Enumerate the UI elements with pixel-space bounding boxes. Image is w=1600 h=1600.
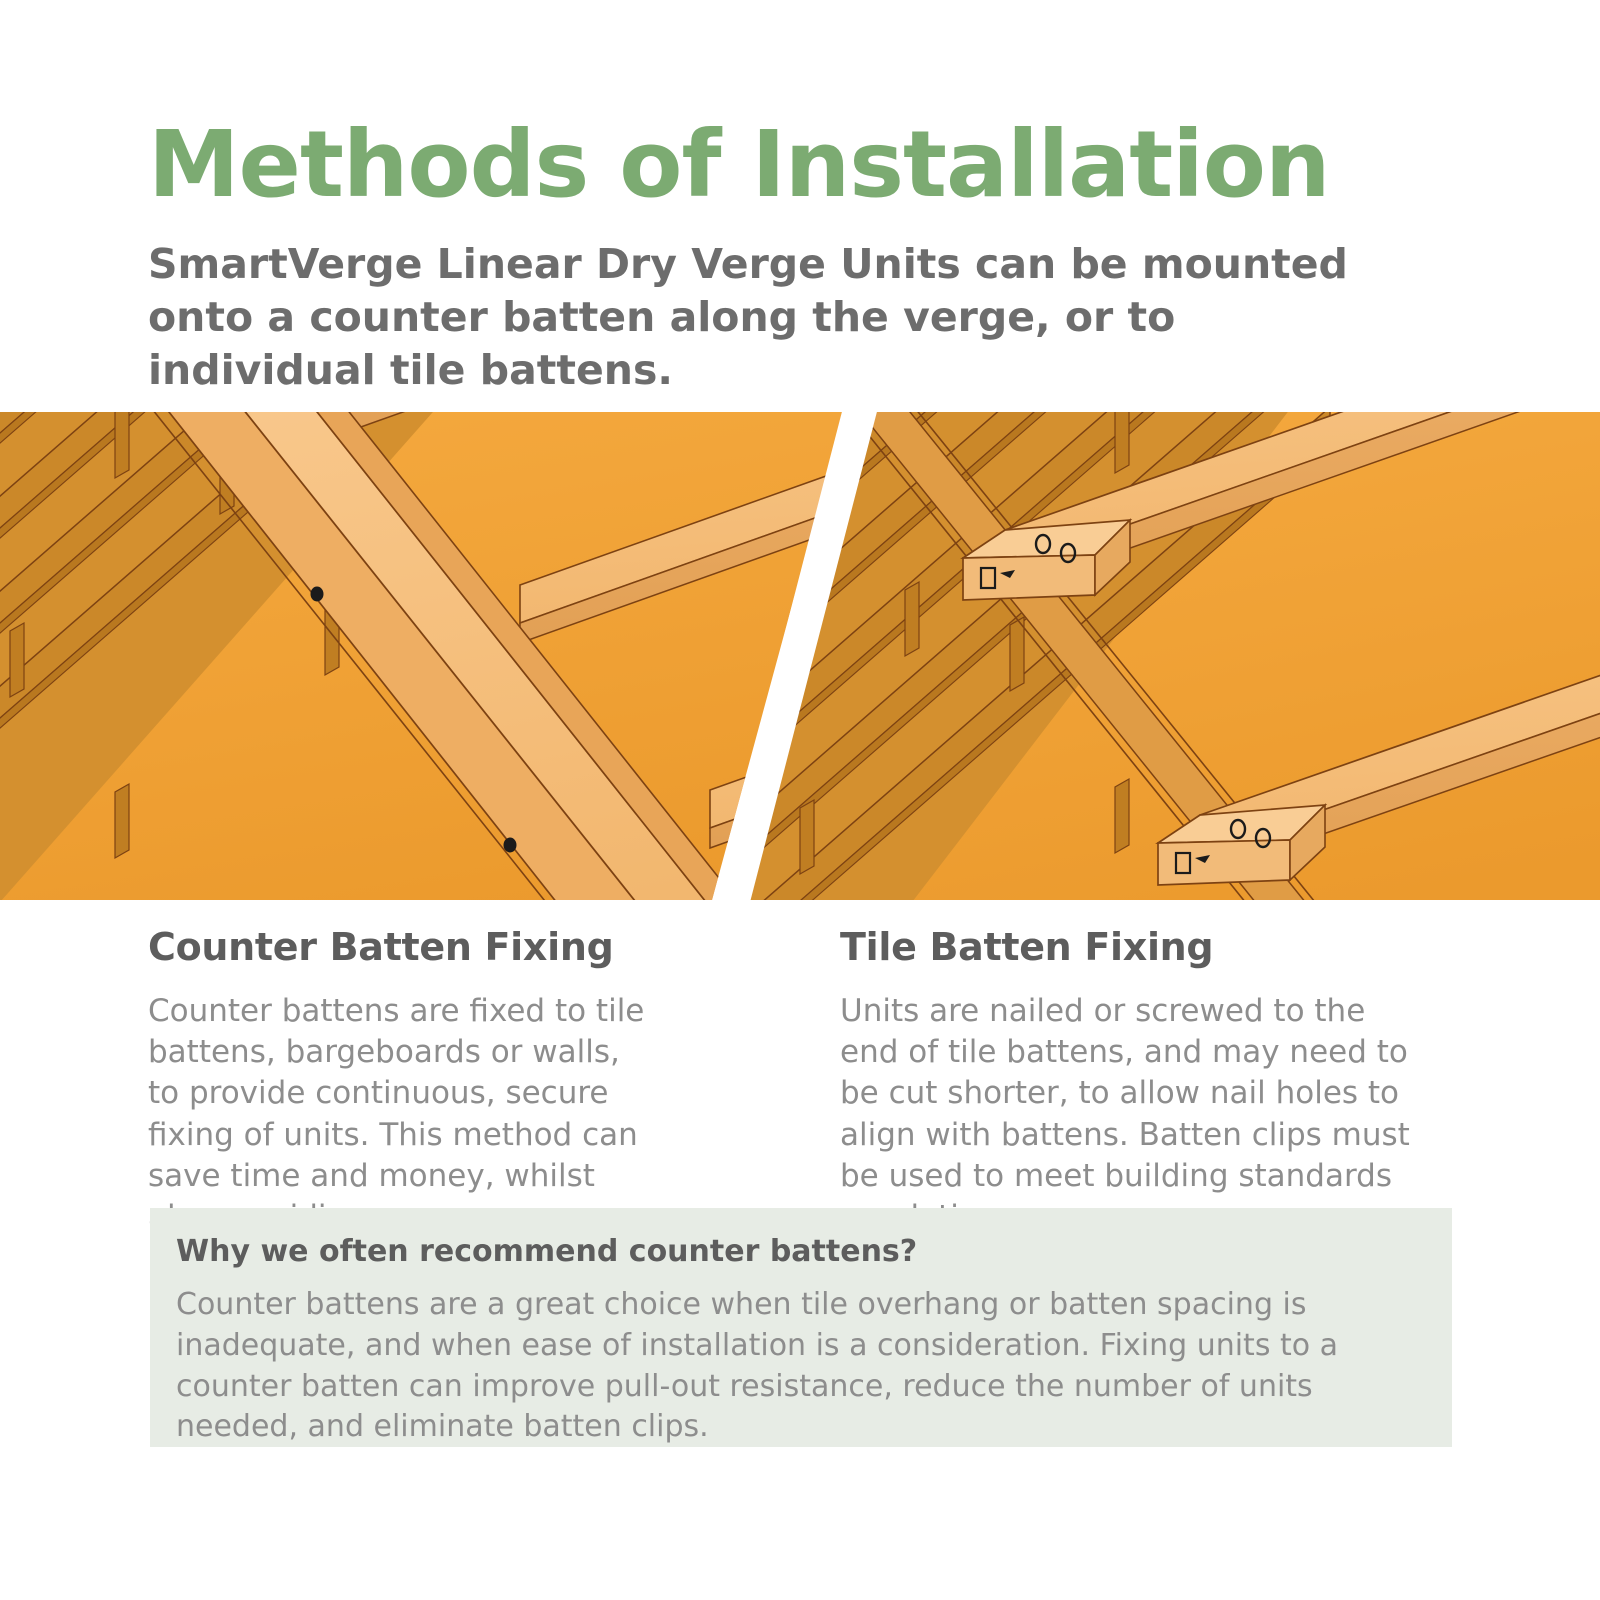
fixing-hole xyxy=(311,587,324,602)
callout-title: Why we often recommend counter battens? xyxy=(176,1234,1418,1269)
page-title: Methods of Installation xyxy=(148,0,1600,212)
recommendation-callout: Why we often recommend counter battens? … xyxy=(150,1208,1452,1447)
page-header: Methods of Installation SmartVerge Linea… xyxy=(0,0,1600,398)
column-heading: Counter Batten Fixing xyxy=(148,900,660,969)
isometric-roof-diagram-svg xyxy=(0,410,1600,900)
column-heading: Tile Batten Fixing xyxy=(840,900,1420,969)
roof-installation-illustration xyxy=(0,410,1600,900)
column-body: Units are nailed or screwed to the end o… xyxy=(840,969,1420,1238)
page-subtitle: SmartVerge Linear Dry Verge Units can be… xyxy=(148,212,1378,398)
callout-body: Counter battens are a great choice when … xyxy=(176,1269,1418,1448)
fixing-hole xyxy=(504,838,517,853)
